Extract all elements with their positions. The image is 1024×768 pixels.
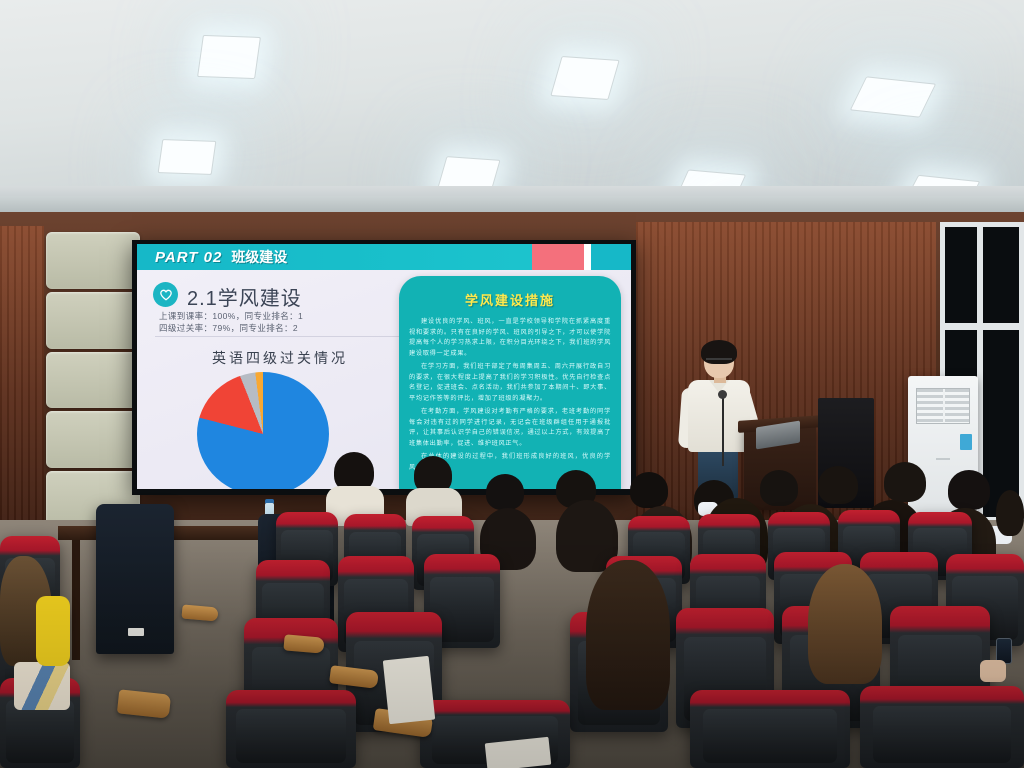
divider xyxy=(155,336,400,337)
slide-part-title: 班级建设 xyxy=(231,247,287,267)
ac-vent-grille xyxy=(916,388,970,424)
seat-armrest xyxy=(283,634,324,653)
ac-control-line xyxy=(936,458,950,460)
auditorium-seat[interactable] xyxy=(860,686,1024,768)
student-head xyxy=(630,472,668,508)
student-head xyxy=(948,470,990,510)
heart-icon xyxy=(153,282,178,307)
pie-chart xyxy=(197,372,329,489)
microphone-icon xyxy=(718,390,727,399)
section-title: 2.1学风建设 xyxy=(187,282,302,311)
card-paragraph: 在考勤方面，学风建设对考勤有严格的要求，老班考勤的同学每会对违有过的同学进行记录… xyxy=(409,407,611,449)
auditorium-seat[interactable] xyxy=(690,690,850,768)
accent-block-gap xyxy=(584,244,591,270)
microphone-stand xyxy=(722,396,724,466)
accent-block-pink xyxy=(532,244,584,270)
stat-line-cet4: 四级过关率：79%，同专业排名：2 xyxy=(159,322,303,334)
glasses-icon xyxy=(706,358,732,364)
ceiling xyxy=(0,0,1024,212)
ceiling-light xyxy=(197,35,261,79)
ceiling-light xyxy=(550,56,619,100)
ceiling-light xyxy=(158,139,217,175)
student-head xyxy=(760,470,798,506)
paper-sheet xyxy=(485,737,552,768)
student-head xyxy=(996,490,1024,536)
lecture-hall-scene: PART 02 班级建设 2.1学风建设 上课到课率：100%，同专业排名：1 … xyxy=(0,0,1024,768)
stat-line-attendance: 上课到课率：100%，同专业排名：1 xyxy=(159,310,303,322)
ceiling-light xyxy=(850,76,937,117)
student-hand xyxy=(980,660,1006,682)
paper-sheet xyxy=(383,656,435,724)
slide-part-tag: PART 02 xyxy=(155,249,222,266)
student-head xyxy=(486,474,524,510)
measures-card-body: 建设优良的学风、班风，一直是学校领导和学院在抓紧高度重视和要求的。只有在良好的学… xyxy=(409,317,611,473)
card-paragraph: 在学习方面，我们班干部定了每周集周五、周六开展行政自习的要求，在很大程度上提高了… xyxy=(409,362,611,404)
topbar-accent-blocks xyxy=(532,244,631,270)
section-stats: 上课到课率：100%，同专业排名：1 四级过关率：79%，同专业排名：2 xyxy=(159,310,303,334)
ceiling-light xyxy=(437,156,500,192)
slide-topbar: PART 02 班级建设 xyxy=(137,244,631,270)
auditorium-seat[interactable] xyxy=(226,690,356,768)
slide: PART 02 班级建设 2.1学风建设 上课到课率：100%，同专业排名：1 … xyxy=(137,244,631,489)
heart-icon-svg xyxy=(159,288,173,301)
projection-screen: PART 02 班级建设 2.1学风建设 上课到课率：100%，同专业排名：1 … xyxy=(132,240,636,495)
acoustic-panel-column-left xyxy=(46,232,140,528)
card-paragraph: 建设优良的学风、班风，一直是学校领导和学院在抓紧高度重视和要求的。只有在良好的学… xyxy=(409,317,611,359)
seat-tag xyxy=(128,628,144,636)
student-head xyxy=(818,466,858,504)
wood-wall-panel-left xyxy=(0,226,44,526)
student-sleeve xyxy=(36,596,70,666)
student-head xyxy=(808,564,882,684)
measures-card-title: 学风建设措施 xyxy=(409,290,611,309)
pie-chart-graphic xyxy=(197,372,329,489)
seat-armrest xyxy=(181,604,218,621)
student-head xyxy=(586,560,670,710)
acoustic-panel xyxy=(46,232,140,289)
front-table-leg xyxy=(72,540,80,660)
acoustic-panel xyxy=(46,292,140,349)
student-head xyxy=(884,462,926,502)
acoustic-panel xyxy=(46,352,140,409)
accent-block-teal xyxy=(591,244,631,270)
chart-title: 英语四级过关情况 xyxy=(155,348,405,368)
tote-bag xyxy=(14,662,70,710)
ac-badge xyxy=(960,434,972,450)
acoustic-panel xyxy=(46,411,140,468)
